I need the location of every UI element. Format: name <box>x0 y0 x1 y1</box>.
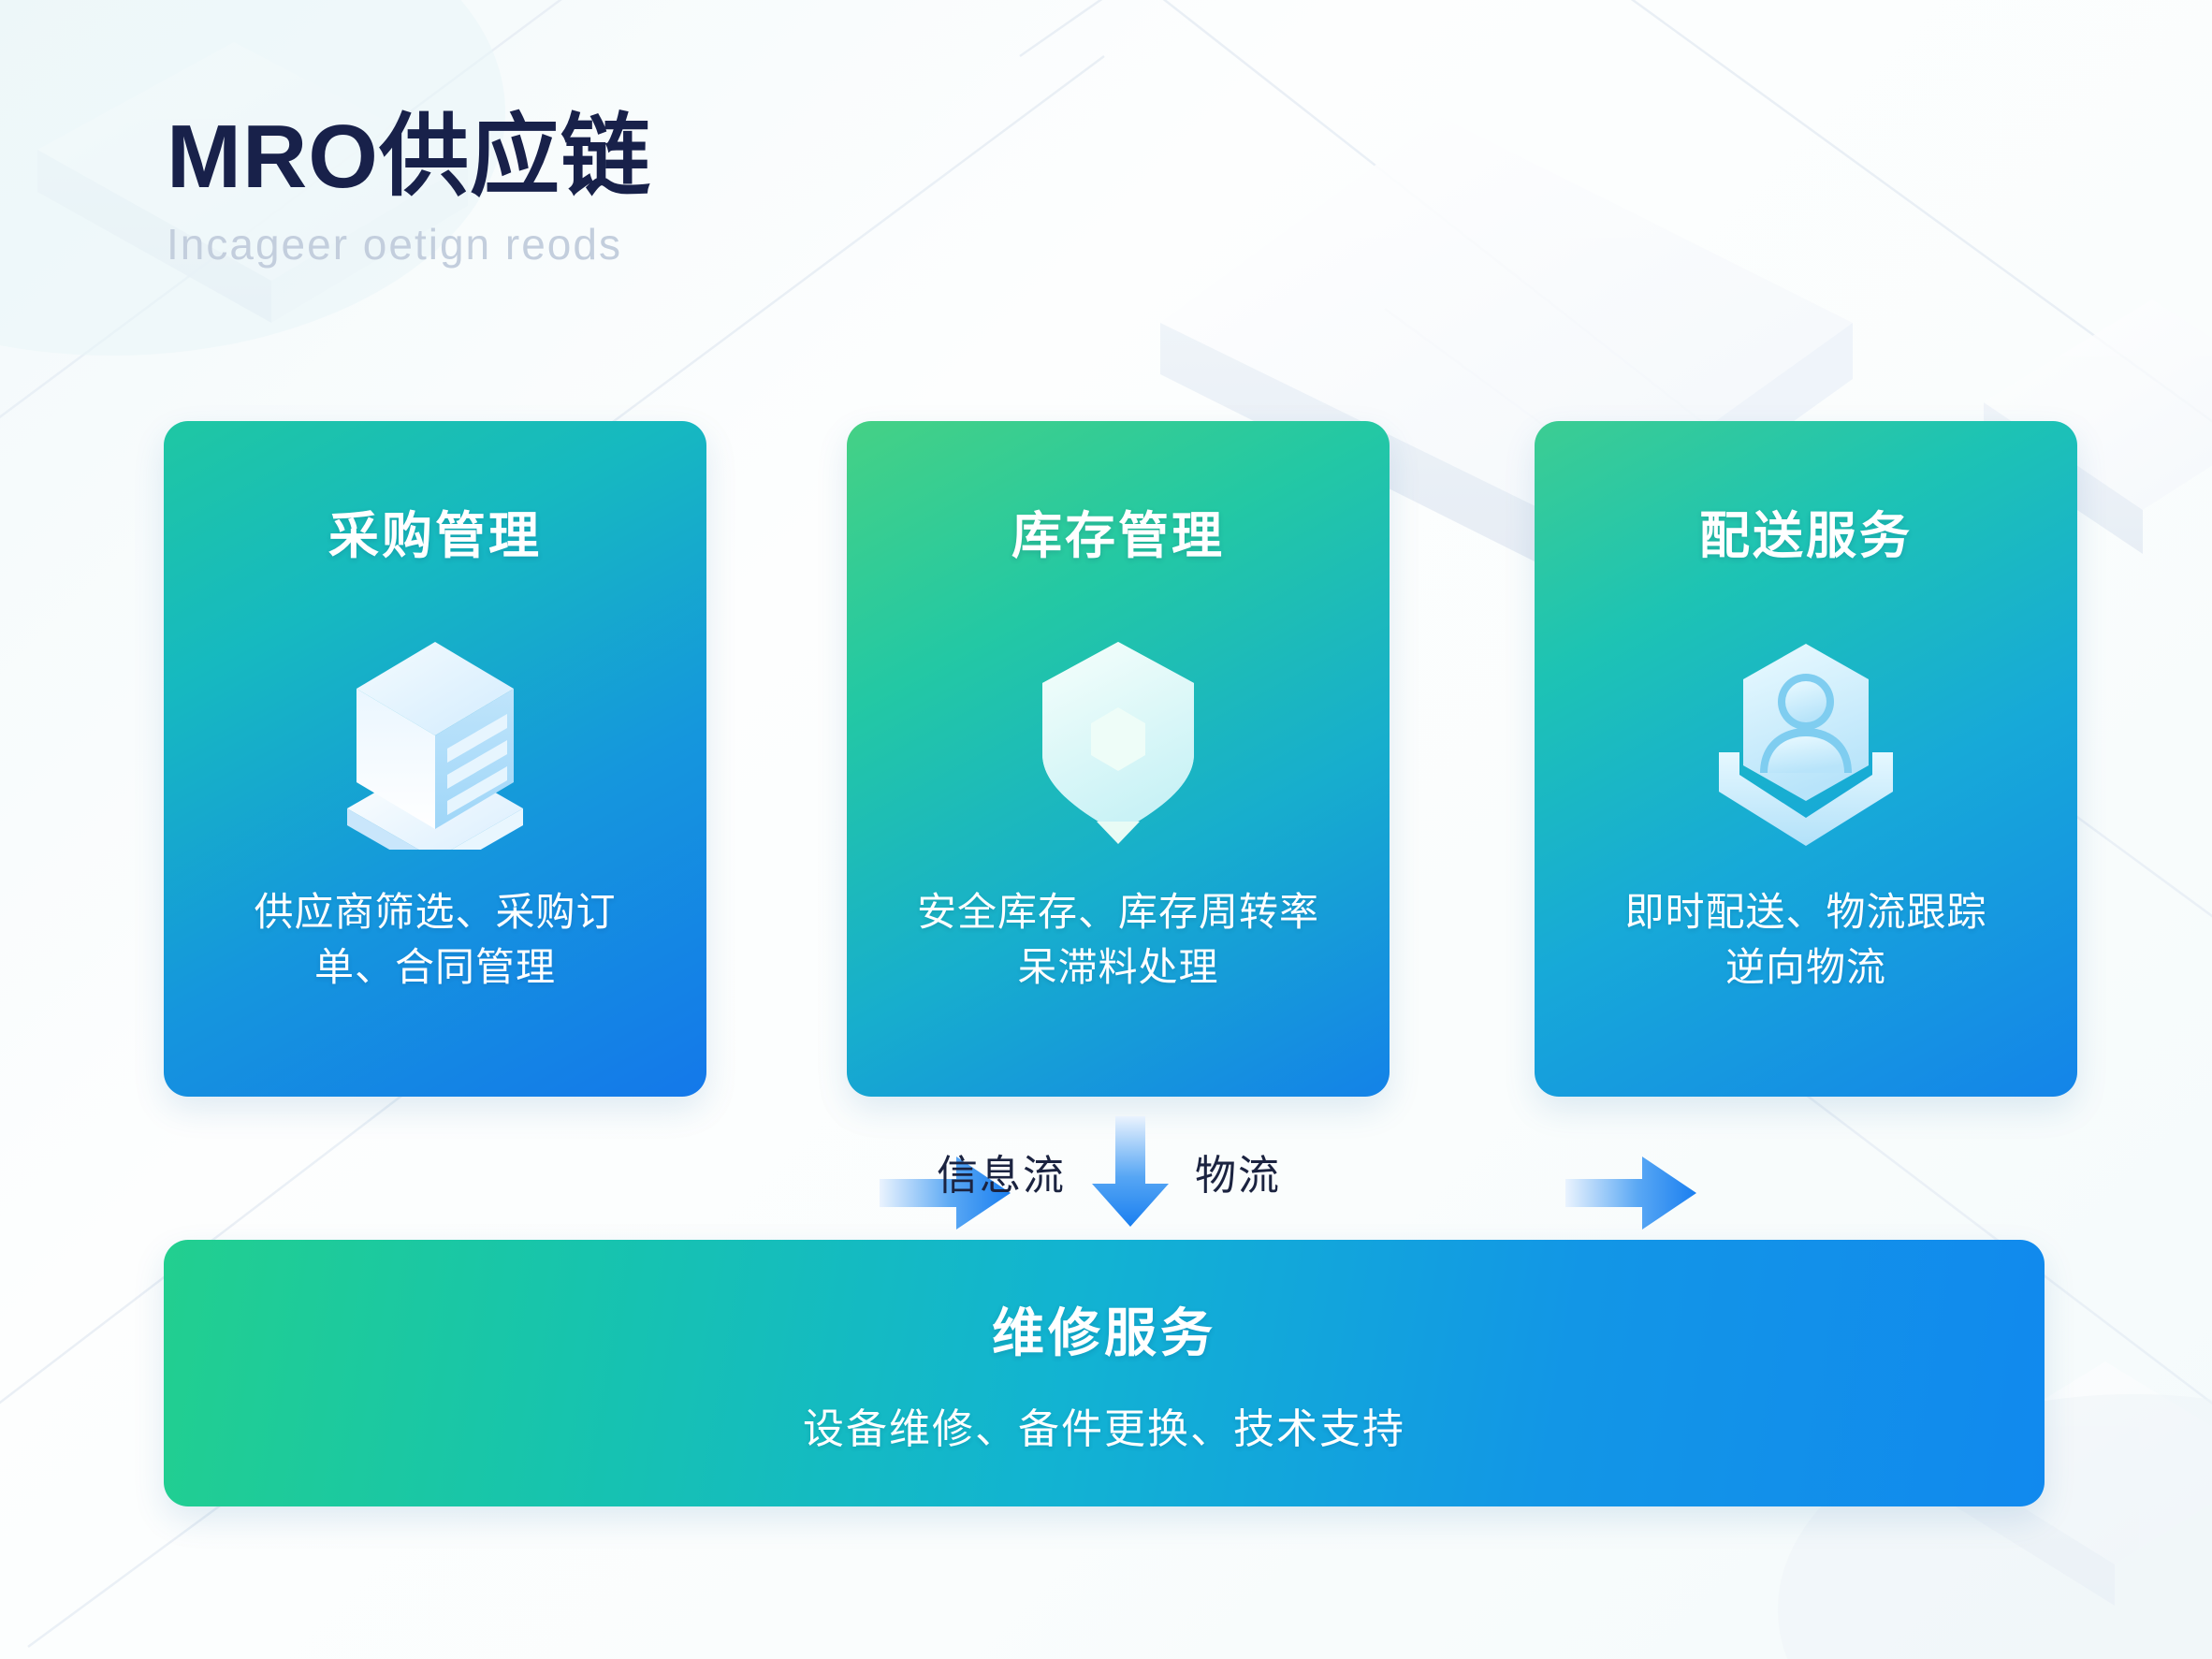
card-description-line-2: 逆向物流 <box>1559 939 2053 996</box>
card-description: 安全库存、库存周转率 呆滞料处理 <box>871 884 1365 996</box>
card-description-line-1: 供应商筛选、采购订 <box>188 884 682 940</box>
flow-label-information: 信息流 <box>937 1142 1066 1201</box>
shield-hexagon-icon <box>847 634 1390 850</box>
flow-legend: 信息流 物流 <box>898 1115 1319 1228</box>
arrow-down-icon-svg <box>1090 1116 1171 1227</box>
page-title: MRO供应链 <box>167 109 1009 206</box>
arrow-down-icon <box>1090 1116 1171 1227</box>
person-hexagon-icon <box>1535 634 2077 850</box>
card-title: 配送服务 <box>1535 494 2077 568</box>
card-description: 供应商筛选、采购订 单、合同管理 <box>188 884 682 996</box>
card-title: 库存管理 <box>847 494 1390 568</box>
isometric-box-icon <box>164 634 706 850</box>
page-subtitle: Incageer oetign reods <box>167 219 1009 269</box>
arrow-right-icon <box>1565 1155 1696 1231</box>
card-title: 采购管理 <box>164 494 706 568</box>
process-card-row: 采购管理 <box>164 421 2077 1097</box>
flow-card-inventory[interactable]: 库存管理 安全库存、库存周转率 <box>847 421 1390 1097</box>
service-bar-description: 设备维修、备件更换、技术支持 <box>803 1395 1405 1455</box>
person-hexagon-icon-svg <box>1698 634 1914 850</box>
service-bar-repair[interactable]: 维修服务 设备维修、备件更换、技术支持 <box>164 1240 2045 1506</box>
shield-hexagon-icon-svg <box>1011 634 1226 850</box>
card-description-line-1: 安全库存、库存周转率 <box>871 884 1365 940</box>
service-bar-title: 维修服务 <box>992 1291 1216 1367</box>
card-description: 即时配送、物流跟踪 逆向物流 <box>1559 884 2053 996</box>
isometric-box-icon-svg <box>327 634 543 850</box>
flow-label-logistics: 物流 <box>1195 1142 1281 1201</box>
card-description-line-2: 呆滞料处理 <box>871 939 1365 996</box>
flow-card-delivery[interactable]: 配送服务 <box>1535 421 2077 1097</box>
card-description-line-1: 即时配送、物流跟踪 <box>1559 884 2053 940</box>
page-header: MRO供应链 Incageer oetign reods <box>167 109 1009 269</box>
arrow-right-icon-svg <box>1565 1155 1696 1231</box>
card-description-line-2: 单、合同管理 <box>188 939 682 996</box>
flow-card-procurement[interactable]: 采购管理 <box>164 421 706 1097</box>
